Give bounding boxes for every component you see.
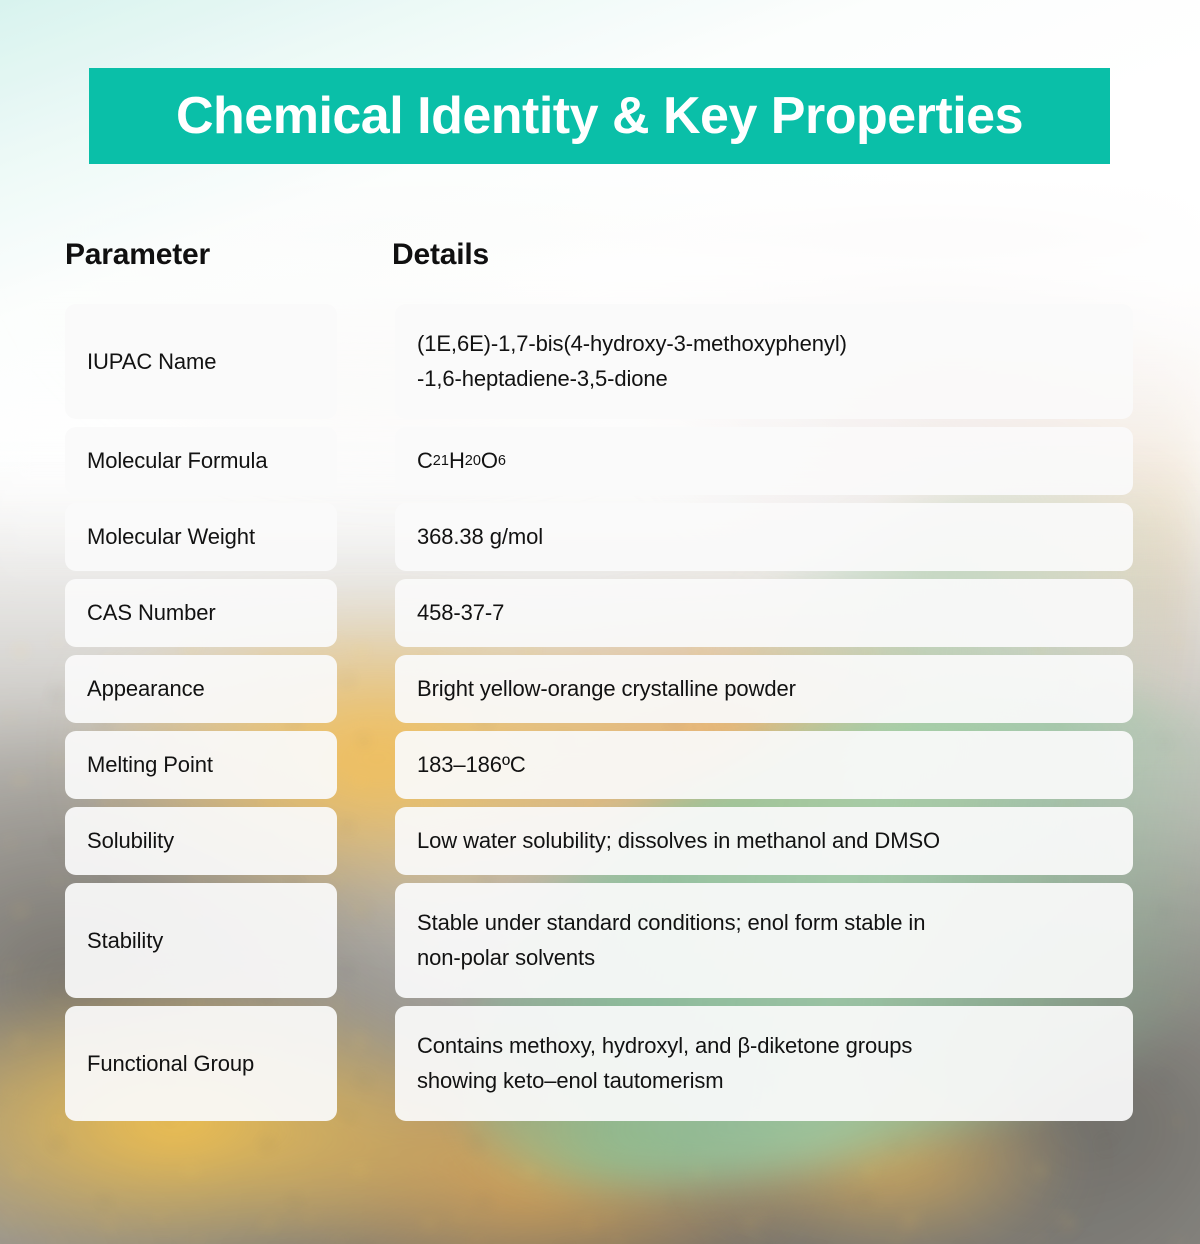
parameter-cell: IUPAC Name: [65, 304, 337, 419]
detail-cell: 368.38 g/mol: [395, 503, 1133, 571]
detail-line-2: non-polar solvents: [417, 945, 595, 970]
title-banner: Chemical Identity & Key Properties: [89, 68, 1110, 164]
formula-element: O: [481, 444, 498, 478]
column-header-row: Parameter Details: [0, 238, 1200, 282]
table-row: Molecular FormulaC21H20O6: [0, 427, 1200, 495]
detail-cell: 458-37-7: [395, 579, 1133, 647]
table-row: StabilityStable under standard condition…: [0, 883, 1200, 998]
formula-subscript: 20: [465, 450, 481, 472]
detail-cell: Bright yellow-orange crystalline powder: [395, 655, 1133, 723]
detail-cell: Low water solubility; dissolves in metha…: [395, 807, 1133, 875]
table-row: SolubilityLow water solubility; dissolve…: [0, 807, 1200, 875]
parameter-cell: Molecular Weight: [65, 503, 337, 571]
table-row: Molecular Weight368.38 g/mol: [0, 503, 1200, 571]
detail-line-2: showing keto–enol tautomerism: [417, 1068, 724, 1093]
table-row: CAS Number458-37-7: [0, 579, 1200, 647]
detail-text: (1E,6E)-1,7-bis(4-hydroxy-3-methoxypheny…: [417, 327, 847, 395]
detail-line-1: Stable under standard conditions; enol f…: [417, 910, 925, 935]
infographic-page: Chemical Identity & Key Properties Param…: [0, 0, 1200, 1244]
detail-line-1: Contains methoxy, hydroxyl, and β-diketo…: [417, 1033, 912, 1058]
formula-subscript: 21: [433, 450, 449, 472]
parameter-cell: Appearance: [65, 655, 337, 723]
detail-cell: Stable under standard conditions; enol f…: [395, 883, 1133, 998]
table-row: AppearanceBright yellow-orange crystalli…: [0, 655, 1200, 723]
detail-cell: (1E,6E)-1,7-bis(4-hydroxy-3-methoxypheny…: [395, 304, 1133, 419]
detail-cell: C21H20O6: [395, 427, 1133, 495]
detail-cell: Contains methoxy, hydroxyl, and β-diketo…: [395, 1006, 1133, 1121]
formula-element: C: [417, 444, 433, 478]
table-row: Functional GroupContains methoxy, hydrox…: [0, 1006, 1200, 1121]
page-title: Chemical Identity & Key Properties: [176, 90, 1023, 142]
detail-text: Stable under standard conditions; enol f…: [417, 906, 925, 974]
detail-cell: 183–186ºC: [395, 731, 1133, 799]
parameter-cell: Functional Group: [65, 1006, 337, 1121]
detail-line-2: -1,6-heptadiene-3,5-dione: [417, 366, 668, 391]
formula-subscript: 6: [498, 450, 506, 472]
parameter-cell: Melting Point: [65, 731, 337, 799]
parameter-cell: CAS Number: [65, 579, 337, 647]
table-row: IUPAC Name(1E,6E)-1,7-bis(4-hydroxy-3-me…: [0, 304, 1200, 419]
properties-table: IUPAC Name(1E,6E)-1,7-bis(4-hydroxy-3-me…: [0, 304, 1200, 1129]
column-header-parameter: Parameter: [65, 238, 210, 272]
table-row: Melting Point183–186ºC: [0, 731, 1200, 799]
detail-text: Contains methoxy, hydroxyl, and β-diketo…: [417, 1029, 912, 1097]
column-header-details: Details: [392, 238, 489, 272]
formula-element: H: [449, 444, 465, 478]
parameter-cell: Solubility: [65, 807, 337, 875]
detail-line-1: (1E,6E)-1,7-bis(4-hydroxy-3-methoxypheny…: [417, 331, 847, 356]
parameter-cell: Stability: [65, 883, 337, 998]
parameter-cell: Molecular Formula: [65, 427, 337, 495]
